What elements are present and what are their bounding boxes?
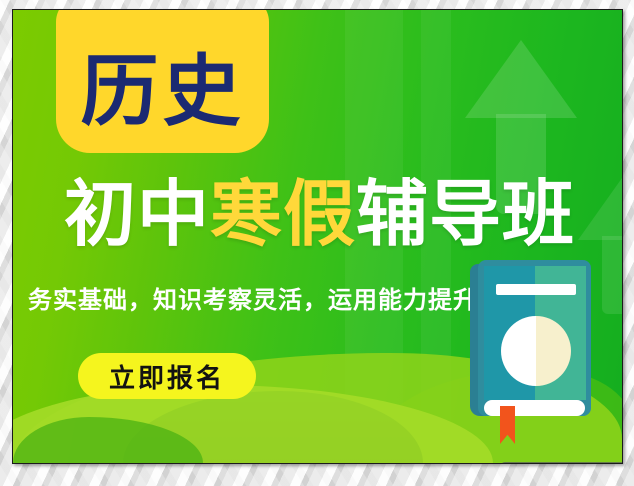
- book-illustration: [470, 260, 591, 422]
- enroll-now-button[interactable]: 立即报名: [78, 353, 256, 399]
- book-pages: [484, 400, 585, 416]
- arrow-up-head: [465, 40, 577, 118]
- page-backdrop: 历史 初中寒假辅导班 务实基础，知识考察灵活，运用能力提升 立即报名: [0, 0, 634, 486]
- headline-part-season: 寒假: [210, 172, 356, 256]
- subject-tag: 历史: [56, 9, 269, 153]
- subject-tag-label: 历史: [80, 53, 244, 131]
- page-title: 初中寒假辅导班: [27, 178, 612, 250]
- headline-part-grade: 初中: [64, 172, 210, 256]
- promotional-banner: 历史 初中寒假辅导班 务实基础，知识考察灵活，运用能力提升 立即报名: [12, 9, 623, 464]
- book-title-band: [496, 284, 576, 295]
- subtitle-text: 务实基础，知识考察灵活，运用能力提升: [27, 287, 479, 313]
- watermark: 培训帮网: [500, 462, 623, 464]
- headline-part-course: 辅导班: [356, 172, 575, 256]
